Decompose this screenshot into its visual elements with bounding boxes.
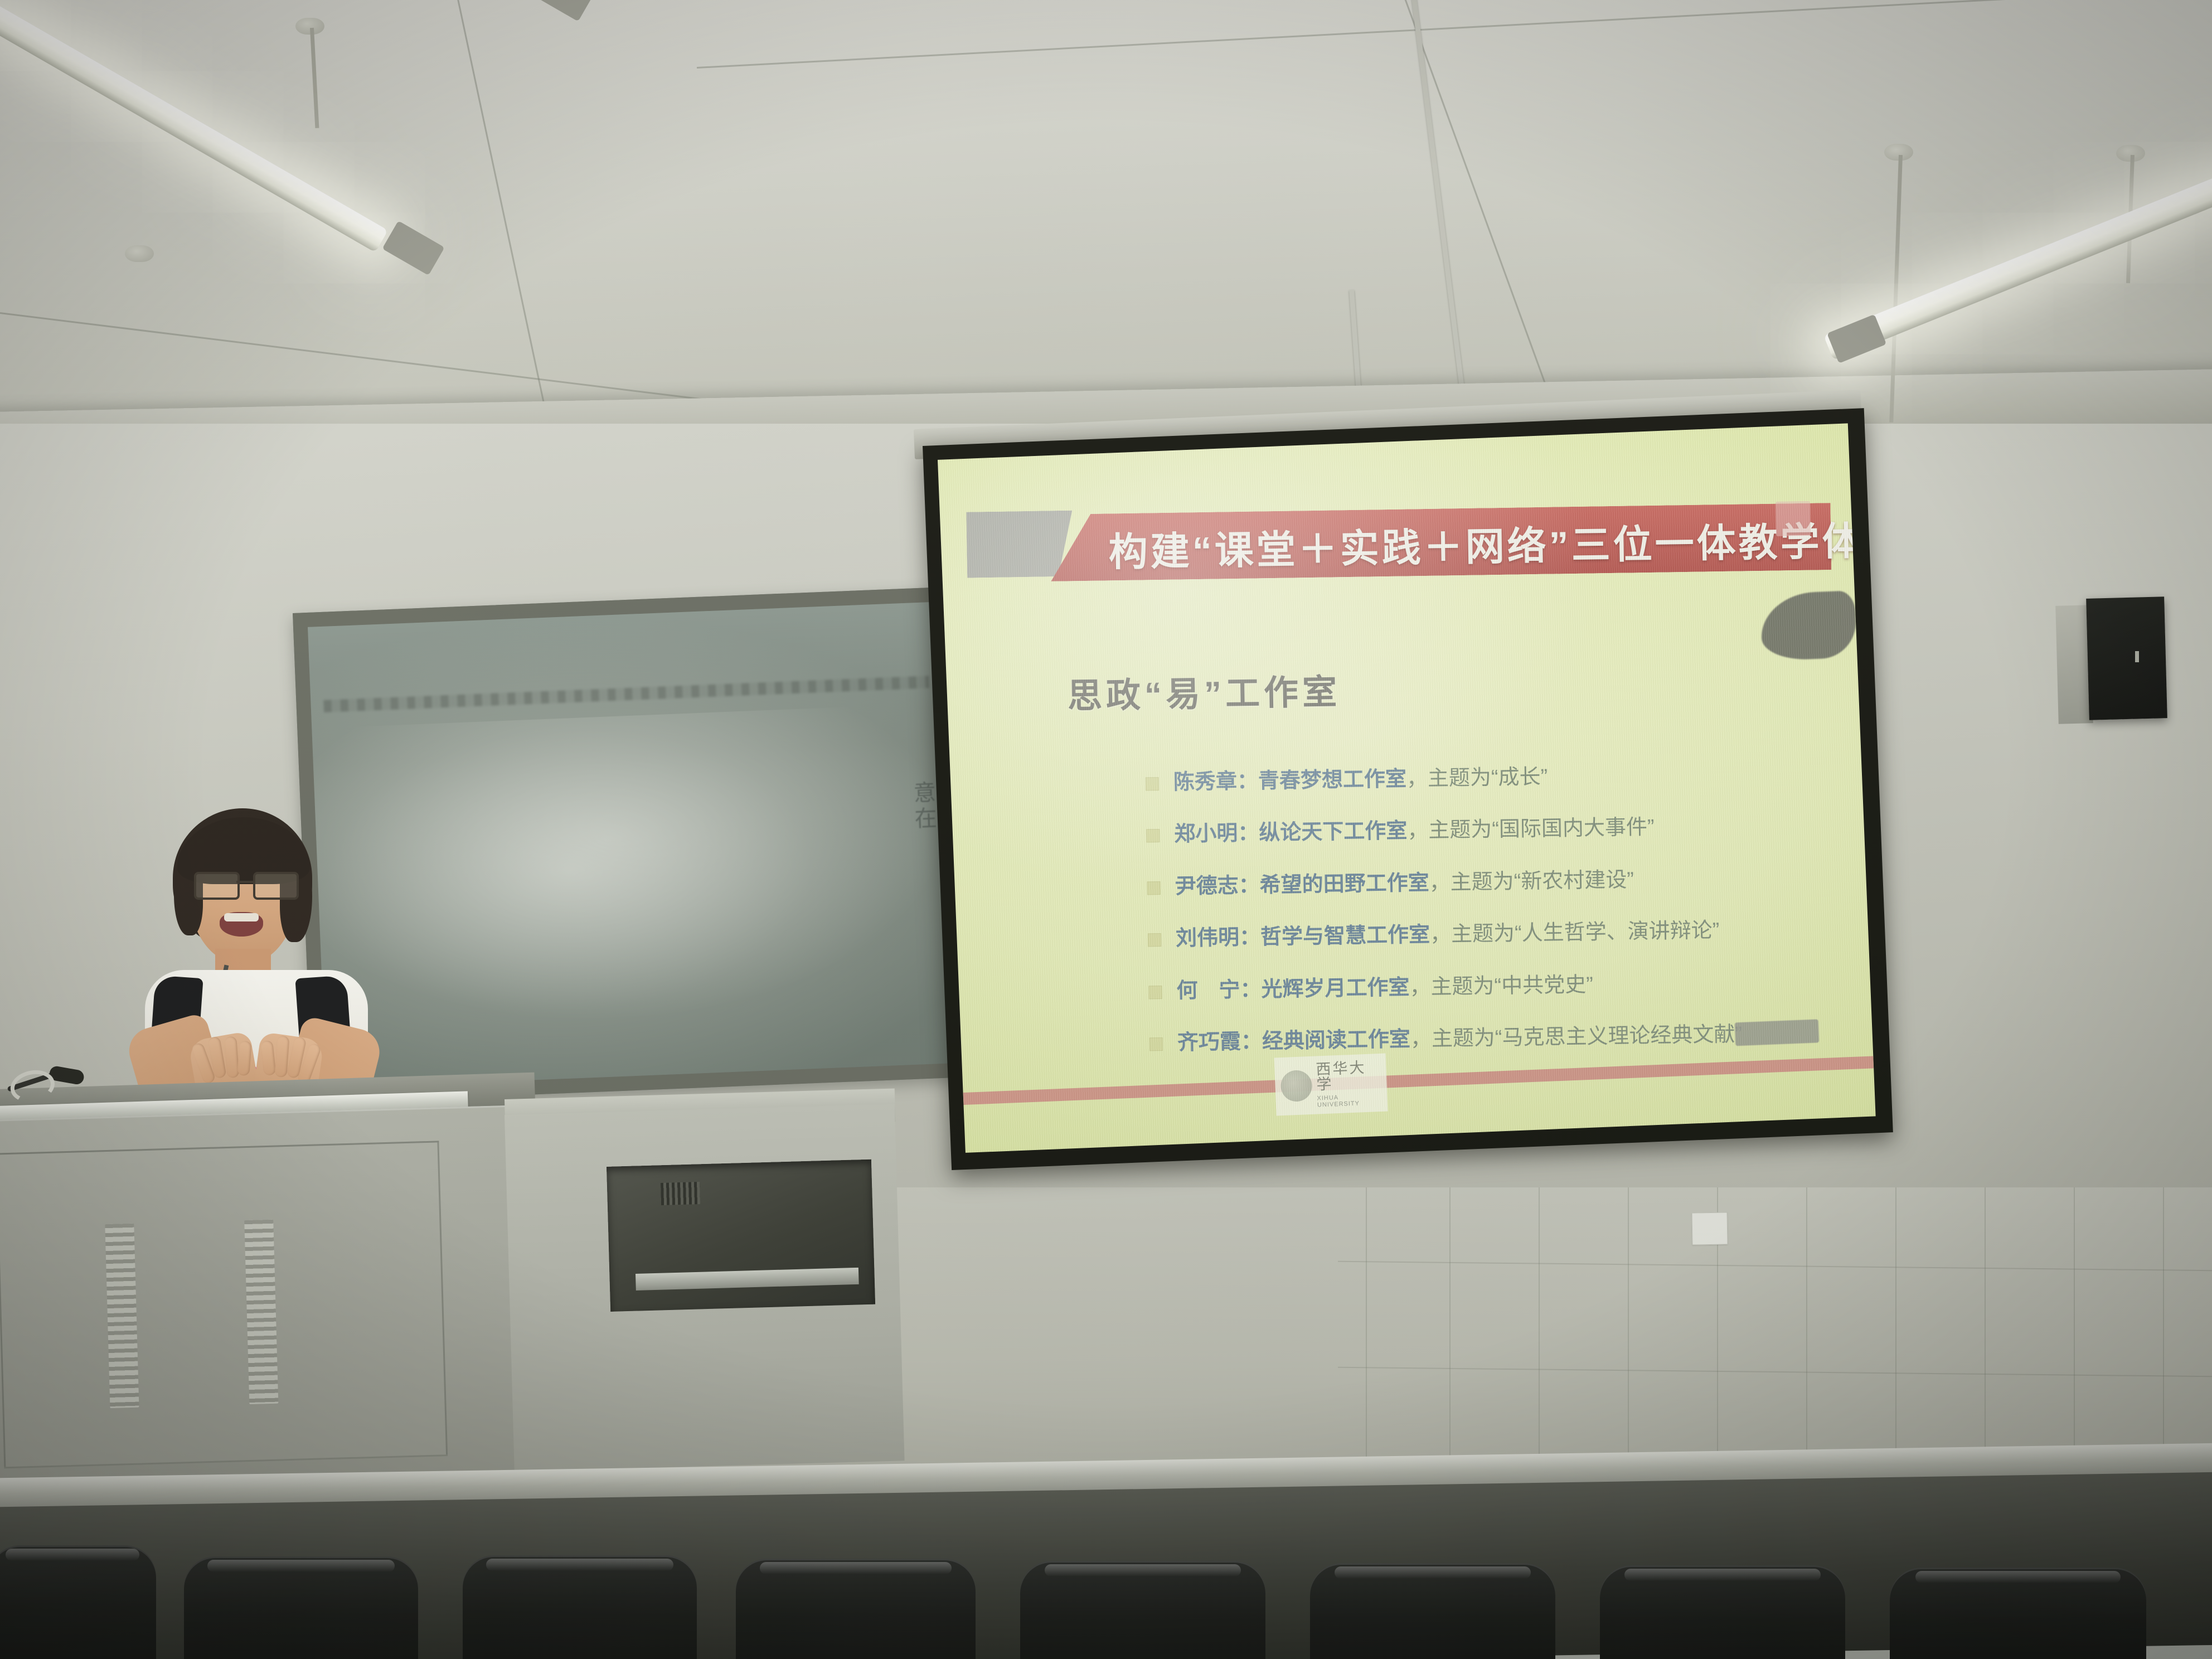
list-item: 尹德志：希望的田野工作室，主题为“新农村建设” [1147, 864, 1833, 901]
university-logo-text: 西华大学 [1316, 1059, 1381, 1092]
header-seal-badge [1776, 501, 1811, 536]
seat-back [0, 1545, 156, 1659]
wall-speaker-led [2135, 651, 2139, 662]
teaching-podium [0, 1105, 540, 1511]
glasses-bridge [236, 881, 254, 883]
slide-bullet-list: 陈秀章：青春梦想工作室，主题为“成长” 郑小明：纵论天下工作室，主题为“国际国内… [1146, 759, 1836, 1082]
list-item: 齐巧霞：经典阅读工作室，主题为“马克思主义理论经典文献” [1149, 1020, 1836, 1058]
bullet-content: 刘伟明：哲学与智慧工作室，主题为“人生哲学、演讲辩论” [1176, 915, 1834, 953]
header-gray-tab [966, 511, 1073, 578]
podium-vent-right [244, 1220, 278, 1404]
university-logo-watermark: 西华大学 XIHUA UNIVERSITY [1274, 1054, 1388, 1116]
podium-vent-left [105, 1224, 139, 1408]
glasses-lens-right [253, 872, 299, 900]
bullet-marker-icon [1148, 933, 1161, 947]
chalk-writing: 意在 [897, 780, 938, 833]
seat-highlight [760, 1562, 952, 1574]
bullet-marker-icon [1147, 881, 1161, 895]
bullet-marker-icon [1149, 1037, 1163, 1051]
slide-header-band: 构建“课堂＋实践＋网络”三位一体教学体 [940, 474, 1854, 594]
screen-fabric-crease [1760, 590, 1857, 661]
slide-subtitle: 思政“易”工作室 [1067, 663, 1341, 718]
university-seal-icon [1280, 1070, 1313, 1102]
seat-back [463, 1555, 697, 1659]
seat-highlight [6, 1549, 139, 1561]
seat-highlight [207, 1560, 395, 1572]
projection-screen-frame: 构建“课堂＋实践＋网络”三位一体教学体 思政“易”工作室 陈秀章：青春梦想工作室… [923, 408, 1893, 1170]
bullet-marker-icon [1148, 986, 1162, 999]
bullet-content: 何 宁：光辉岁月工作室，主题为“中共党史” [1176, 968, 1835, 1005]
seat-back [1600, 1565, 1845, 1659]
av-cabinet-vent-grille [661, 1182, 700, 1205]
seat-back [1890, 1568, 2146, 1659]
seat-highlight [1045, 1564, 1241, 1576]
list-item: 刘伟明：哲学与智慧工作室，主题为“人生哲学、演讲辩论” [1148, 915, 1834, 953]
bullet-marker-icon [1146, 777, 1159, 790]
podium-front-panel [0, 1141, 448, 1468]
university-logo-subtext: XIHUA UNIVERSITY [1317, 1092, 1382, 1108]
wall-notice-paper [1691, 1212, 1728, 1245]
glasses-lens-left [194, 872, 240, 900]
seat-highlight [1915, 1571, 2121, 1583]
slide-canvas: 构建“课堂＋实践＋网络”三位一体教学体 思政“易”工作室 陈秀章：青春梦想工作室… [938, 423, 1876, 1153]
slide-header-title: 构建“课堂＋实践＋网络”三位一体教学体 [1108, 510, 1833, 577]
bullet-marker-icon [1146, 829, 1160, 842]
seat-back [736, 1559, 976, 1659]
seat-back [184, 1556, 418, 1659]
light-hanger-boss-left2 [125, 245, 154, 262]
presenter-teeth [224, 913, 259, 921]
list-item: 何 宁：光辉岁月工作室，主题为“中共党史” [1148, 968, 1835, 1006]
seat-highlight [486, 1559, 673, 1571]
list-item: 郑小明：纵论天下工作室，主题为“国际国内大事件” [1146, 812, 1832, 850]
bullet-content: 陈秀章：青春梦想工作室，主题为“成长” [1173, 759, 1832, 797]
seat-back [1310, 1563, 1555, 1659]
bullet-content: 郑小明：纵论天下工作室，主题为“国际国内大事件” [1174, 812, 1832, 849]
projection-screen: 构建“课堂＋实践＋网络”三位一体教学体 思政“易”工作室 陈秀章：青春梦想工作室… [923, 408, 1893, 1170]
screen-bottom-shadow [1735, 1019, 1820, 1046]
list-item: 陈秀章：青春梦想工作室，主题为“成长” [1146, 759, 1832, 797]
seat-highlight [1335, 1566, 1531, 1579]
wall-speaker [2086, 596, 2167, 720]
bullet-content: 尹德志：希望的田野工作室，主题为“新农村建设” [1175, 864, 1833, 901]
classroom-photo-scene: 意在 构建“课堂＋实践＋网络”三位一体教学体 思政“易”工作室 陈秀章：青春梦想… [0, 0, 2212, 1659]
seat-back [1020, 1561, 1265, 1659]
seat-highlight [1624, 1569, 1821, 1581]
presenter-glasses [193, 872, 297, 896]
